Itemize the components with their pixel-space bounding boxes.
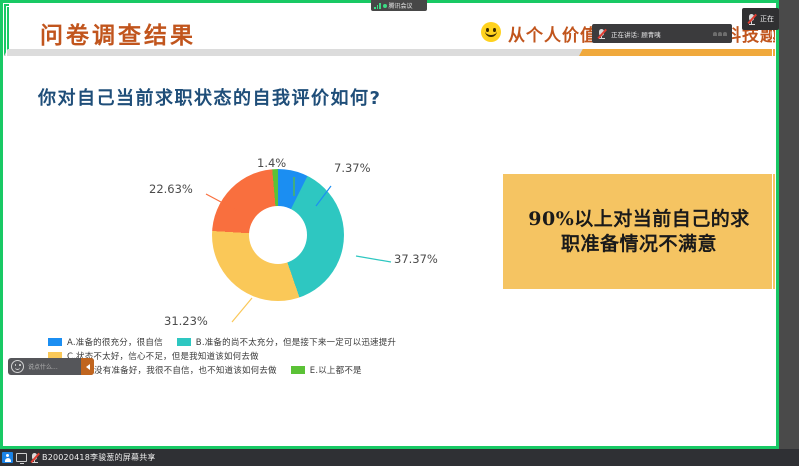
- status-dot-icon: [383, 4, 387, 8]
- legend-label-B: B.准备的尚不太充分，但是接下来一定可以迅速提升: [196, 336, 396, 348]
- legend-item-A[interactable]: A.准备的很充分，很自信: [48, 336, 163, 348]
- meeting-app-indicator[interactable]: 腾讯会议: [371, 0, 427, 11]
- slide-title: 问卷调查结果: [40, 16, 196, 50]
- emoji-icon[interactable]: [11, 360, 24, 373]
- share-status-text: B20020418李骏葱的屏幕共享: [42, 452, 156, 463]
- presentation-slide: 问卷调查结果 从个人价值和民族情怀看科科技题提升 你对自己当前求职状态的自我评价…: [4, 4, 775, 445]
- meeting-app-label: 腾讯会议: [389, 1, 413, 10]
- chat-input-placeholder[interactable]: 说点什么...: [28, 362, 81, 371]
- donut-ring: [212, 169, 344, 301]
- meeting-toolbar-tab[interactable]: 正在: [742, 8, 779, 30]
- legend-swatch-A: [48, 338, 62, 346]
- mic-muted-icon[interactable]: [747, 13, 756, 25]
- legend-row: C.状态不太好，信心不足，但是我知道该如何去做: [48, 349, 518, 363]
- chart-label-A: 7.37%: [334, 161, 371, 175]
- legend-swatch-E: [291, 366, 305, 374]
- person-icon: [2, 452, 13, 463]
- toolbar-tab-label: 正在: [760, 14, 774, 24]
- chart-label-E: 1.4%: [257, 156, 286, 170]
- donut-center-hole: [249, 206, 307, 264]
- active-speaker-toast: 正在讲话: 顾青咦: [592, 24, 732, 43]
- header-gold-strip: [579, 49, 775, 56]
- chart-label-C: 31.23%: [164, 314, 208, 328]
- legend-swatch-B: [177, 338, 191, 346]
- smiley-face-icon: [481, 22, 501, 42]
- mic-muted-icon: [30, 452, 39, 464]
- legend-label-A: A.准备的很充分，很自信: [67, 336, 163, 348]
- mic-muted-icon: [597, 28, 606, 40]
- chart-label-D: 22.63%: [149, 182, 193, 196]
- legend-label-E: E.以上都不是: [310, 364, 362, 376]
- legend-row: A.准备的很充分，很自信 B.准备的尚不太充分，但是接下来一定可以迅速提升: [48, 335, 518, 349]
- header-grey-strip: [4, 49, 668, 56]
- question-heading: 你对自己当前求职状态的自我评价如何?: [38, 84, 381, 110]
- callout-box: 90%以上对当前自己的求职准备情况不满意: [503, 174, 775, 289]
- donut-chart: 1.4% 7.37% 37.37% 31.23% 22.63%: [144, 144, 474, 329]
- legend-label-D: D.完全没有准备好，我很不自信，也不知道该如何去做: [67, 364, 277, 376]
- screen-share-view: 问卷调查结果 从个人价值和民族情怀看科科技题提升 你对自己当前求职状态的自我评价…: [0, 0, 799, 466]
- share-status-bar: B20020418李骏葱的屏幕共享: [0, 449, 300, 466]
- chart-label-B: 37.37%: [394, 252, 438, 266]
- chevron-right-icon[interactable]: [81, 358, 94, 375]
- audio-wave-icon: [713, 32, 727, 36]
- legend-label-C: C.状态不太好，信心不足，但是我知道该如何去做: [67, 350, 259, 362]
- chart-legend: A.准备的很充分，很自信 B.准备的尚不太充分，但是接下来一定可以迅速提升 C.…: [48, 335, 518, 377]
- callout-text: 90%以上对当前自己的求职准备情况不满意: [521, 207, 757, 256]
- chat-input-widget[interactable]: 说点什么...: [8, 358, 94, 375]
- active-speaker-label: 正在讲话: 顾青咦: [611, 29, 661, 39]
- screen-share-icon: [16, 453, 27, 462]
- legend-row: D.完全没有准备好，我很不自信，也不知道该如何去做 E.以上都不是: [48, 363, 518, 377]
- legend-item-B[interactable]: B.准备的尚不太充分，但是接下来一定可以迅速提升: [177, 336, 396, 348]
- right-gutter: [779, 0, 799, 466]
- legend-item-E[interactable]: E.以上都不是: [291, 364, 362, 376]
- signal-bars-icon: [374, 3, 381, 9]
